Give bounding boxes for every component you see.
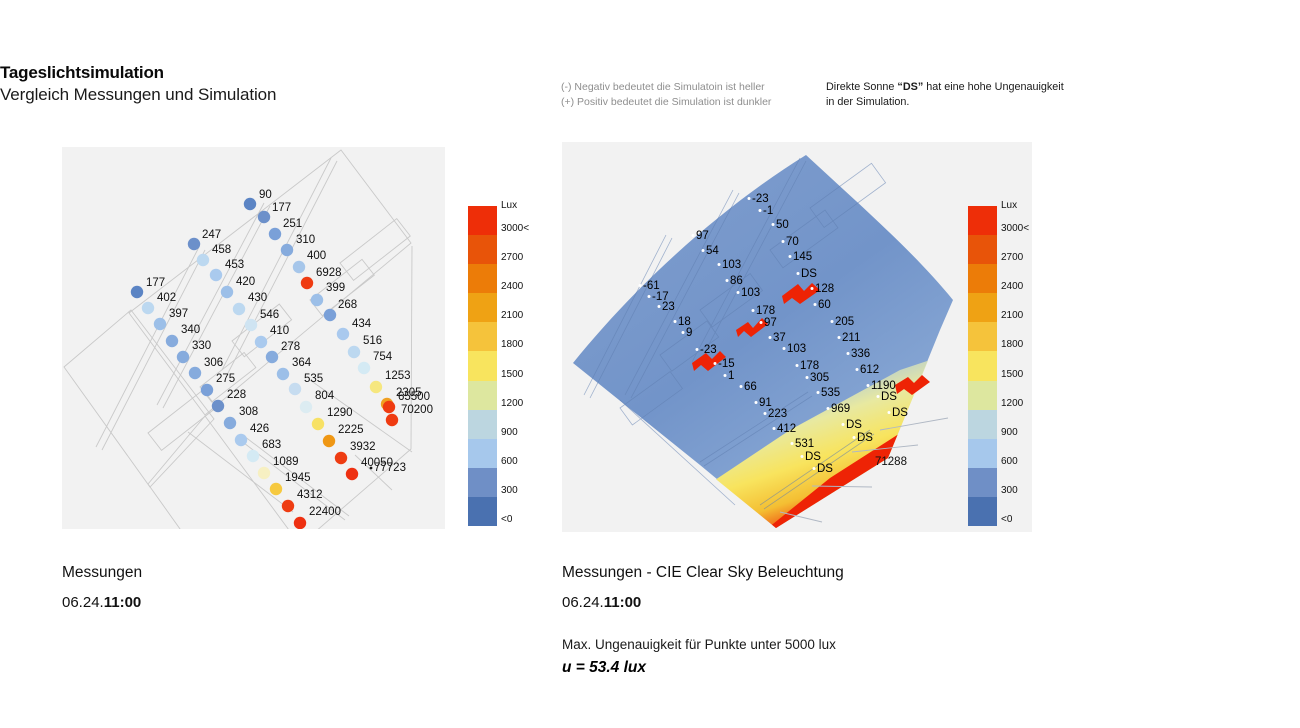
- simulation-point-label: 97: [764, 317, 777, 329]
- colorbar-right-tick: 900: [1001, 427, 1018, 438]
- simulation-point-dot: [748, 197, 751, 200]
- measurement-point-label: 247: [202, 229, 221, 241]
- sign-convention-note: (-) Negativ bedeutet die Simulatoin ist …: [561, 80, 823, 109]
- colorbar-right-tick: 300: [1001, 485, 1018, 496]
- left-caption-title: Messungen: [62, 563, 492, 583]
- colorbar-right-tick: 2400: [1001, 281, 1023, 292]
- simulation-point-dot: [789, 255, 792, 258]
- measurements-floorplan-svg: 9017725131040069283992684345167541253230…: [62, 147, 445, 529]
- simulation-point-dot: [877, 395, 880, 398]
- simulation-point-label: 9: [686, 327, 692, 339]
- simulation-point-dot: [817, 391, 820, 394]
- colorbar-right-tick: 600: [1001, 456, 1018, 467]
- simulation-point-dot: [740, 385, 743, 388]
- simulation-point-label: 103: [722, 259, 741, 271]
- measurement-point-label: 308: [239, 406, 258, 418]
- simulation-point-label: 336: [851, 348, 870, 360]
- measurement-point-label: 364: [292, 357, 312, 369]
- measurement-point: [337, 328, 349, 340]
- measurement-point: [269, 228, 281, 240]
- measurement-point: [312, 418, 324, 430]
- simulation-point-dot: [806, 376, 809, 379]
- simulation-point-label: 412: [777, 423, 796, 435]
- right-caption-time: 11:00: [604, 594, 642, 611]
- simulation-point-label: 205: [835, 316, 854, 328]
- measurement-point-label: 1089: [273, 456, 299, 468]
- measurement-point-label: 458: [212, 244, 231, 256]
- simulation-point-dot: [856, 368, 859, 371]
- measurement-point-label: 65500: [398, 391, 430, 403]
- measurement-point: [189, 367, 201, 379]
- sign-convention-negative: (-) Negativ bedeutet die Simulatoin ist …: [561, 80, 823, 95]
- colorbar-left: Lux3000<27002400210018001500120090060030…: [468, 206, 538, 526]
- measurement-point-label: 430: [248, 292, 267, 304]
- measurement-point: [233, 303, 245, 315]
- simulation-point-label: 305: [810, 372, 829, 384]
- colorbar-left-tick: 1500: [501, 369, 523, 380]
- simulation-point-label: 128: [815, 283, 834, 295]
- colorbar-left-tick: 1800: [501, 339, 523, 350]
- colorbar-left-tick: <0: [501, 514, 512, 525]
- simulation-point-dot: [827, 407, 830, 410]
- direct-sun-note-line2: in der Simulation.: [826, 95, 1116, 110]
- simulation-point-label: 23: [662, 301, 675, 313]
- simulation-point-dot: [847, 352, 850, 355]
- measurement-point-label: 400: [307, 250, 326, 262]
- measurement-extra-dot: [370, 467, 373, 470]
- measurement-point: [258, 211, 270, 223]
- simulation-point-label: 612: [860, 364, 879, 376]
- measurement-point: [221, 286, 233, 298]
- measurement-point-label: 1290: [327, 407, 353, 419]
- measurement-point-label: 402: [157, 292, 176, 304]
- measurements-plot-panel: 9017725131040069283992684345167541253230…: [62, 147, 445, 529]
- measurement-point-label: 70200: [401, 404, 433, 416]
- colorbar-right-strip: [968, 206, 997, 526]
- simulation-point-dot: [888, 411, 891, 414]
- direct-sun-note: Direkte Sonne “DS” hat eine hohe Ungenau…: [826, 80, 1116, 110]
- simulation-point-dot: [797, 272, 800, 275]
- simulation-point-label: 37: [773, 332, 786, 344]
- colorbar-right-segment: [968, 439, 997, 468]
- measurement-point: [154, 318, 166, 330]
- measurement-point: [323, 435, 335, 447]
- measurement-point-label: 278: [281, 341, 300, 353]
- simulation-point-label: DS: [892, 407, 908, 419]
- simulation-point-dot: [764, 412, 767, 415]
- measurement-point-label: 90: [259, 189, 272, 201]
- simulation-point-dot: [682, 331, 685, 334]
- colorbar-right-tick: 1500: [1001, 369, 1023, 380]
- measurement-point-label: 410: [270, 325, 289, 337]
- simulation-point-dot: [867, 384, 870, 387]
- simulation-point-label: -1: [763, 205, 773, 217]
- colorbar-left-tick: 3000<: [501, 223, 529, 234]
- colorbar-right-segment: [968, 468, 997, 497]
- left-caption-date-prefix: 06.24.: [62, 594, 104, 611]
- simulation-point-dot: [755, 401, 758, 404]
- simulation-point-dot: [759, 209, 762, 212]
- measurement-point-label: 251: [283, 218, 302, 230]
- measurement-point-label: 804: [315, 390, 335, 402]
- colorbar-left-ticks: Lux3000<27002400210018001500120090060030…: [501, 206, 541, 526]
- colorbar-right-tick: 2700: [1001, 252, 1023, 263]
- simulation-point-dot: [813, 467, 816, 470]
- measurement-point: [131, 286, 143, 298]
- simulation-point-dot: [853, 436, 856, 439]
- measurement-point-label: 306: [204, 357, 223, 369]
- simulation-extra-label: 71288: [875, 456, 907, 468]
- simulation-point-label: 54: [706, 245, 719, 257]
- measurement-point: [255, 336, 267, 348]
- right-caption-date: 06.24.11:00: [562, 593, 1082, 613]
- measurement-point-label: 1253: [385, 370, 411, 382]
- simulation-point-dot: [782, 240, 785, 243]
- measurement-point: [244, 198, 256, 210]
- simulation-point-label: 178: [800, 360, 819, 372]
- measurement-point: [266, 351, 278, 363]
- direct-sun-note-c: hat eine hohe Ungenauigkeit: [923, 81, 1063, 93]
- colorbar-right-segment: [968, 410, 997, 439]
- measurement-point: [277, 368, 289, 380]
- measurement-point-label: 1945: [285, 472, 311, 484]
- right-caption-date-prefix: 06.24.: [562, 594, 604, 611]
- measurement-point: [383, 401, 395, 413]
- simulation-point-label: DS: [881, 391, 897, 403]
- measurement-point-group: 9017725131040069283992684345167541253230…: [131, 189, 433, 529]
- measurement-point: [197, 254, 209, 266]
- measurement-point: [201, 384, 213, 396]
- simulation-extra-label-group: 71288: [870, 456, 907, 468]
- measurement-point-label: 434: [352, 318, 372, 330]
- simulation-point-label: -23: [752, 193, 769, 205]
- colorbar-right-tick: 1800: [1001, 339, 1023, 350]
- colorbar-left-unit: Lux: [501, 200, 517, 211]
- simulation-point-dot: [838, 336, 841, 339]
- colorbar-right-segment: [968, 322, 997, 351]
- measurement-point: [282, 500, 294, 512]
- colorbar-right-segment: [968, 351, 997, 380]
- simulation-point-dot: [769, 336, 772, 339]
- measurement-point-label: 22400: [309, 506, 341, 518]
- measurement-point-label: 228: [227, 389, 246, 401]
- measurement-point: [324, 309, 336, 321]
- measurement-point-label: 535: [304, 373, 323, 385]
- measurement-point-label: 310: [296, 234, 315, 246]
- simulation-point-dot: [696, 348, 699, 351]
- simulation-point-dot: [658, 305, 661, 308]
- colorbar-right-unit: Lux: [1001, 200, 1017, 211]
- simulation-point-dot: [814, 303, 817, 306]
- simulation-point-label: 531: [795, 438, 814, 450]
- simulation-point-label: 66: [744, 381, 757, 393]
- simulation-point-label: -15: [718, 358, 735, 370]
- simulation-point-label: 103: [741, 287, 760, 299]
- measurement-point: [386, 414, 398, 426]
- measurement-point: [346, 468, 358, 480]
- simulation-point-label: 86: [730, 275, 743, 287]
- left-caption-time: 11:00: [104, 594, 142, 611]
- simulation-falsecolor-svg: -23-150977054145103DS86128-61103-1760231…: [562, 142, 1032, 532]
- simulation-point-label: 223: [768, 408, 787, 420]
- simulation-point-label: 969: [831, 403, 850, 415]
- colorbar-right: Lux3000<27002400210018001500120090060030…: [968, 206, 1038, 526]
- colorbar-right-segment: [968, 235, 997, 264]
- measurement-point-label: 330: [192, 340, 211, 352]
- simulation-extra-dot: [870, 460, 873, 463]
- simulation-point-dot: [842, 423, 845, 426]
- simulation-point-dot: [674, 320, 677, 323]
- colorbar-right-tick: 3000<: [1001, 223, 1029, 234]
- measurement-point: [188, 238, 200, 250]
- measurement-point: [300, 401, 312, 413]
- simulation-point-dot: [783, 347, 786, 350]
- simulation-point-dot: [692, 234, 695, 237]
- simulation-point-dot: [639, 284, 642, 287]
- measurement-point-label: 3932: [350, 441, 376, 453]
- measurement-extra-label-group: 77723: [370, 462, 406, 474]
- measurement-point: [358, 362, 370, 374]
- measurement-point-label: 397: [169, 308, 188, 320]
- colorbar-left-segment: [468, 439, 497, 468]
- simulation-point-label: 178: [756, 305, 775, 317]
- simulation-point-dot: [726, 279, 729, 282]
- measurement-point: [370, 381, 382, 393]
- accuracy-note: Max. Ungenauigkeit für Punkte unter 5000…: [562, 635, 1082, 655]
- simulation-point-label: -23: [700, 344, 717, 356]
- page-title: Tageslichtsimulation: [0, 62, 560, 83]
- simulation-point-label: DS: [846, 419, 862, 431]
- colorbar-left-segment: [468, 206, 497, 235]
- measurement-point: [235, 434, 247, 446]
- measurement-point: [294, 517, 306, 529]
- simulation-point-dot: [831, 320, 834, 323]
- measurement-point-label: 177: [272, 202, 291, 214]
- colorbar-left-segment: [468, 468, 497, 497]
- simulation-point-dot: [718, 263, 721, 266]
- measurement-point-label: 426: [250, 423, 269, 435]
- simulation-point-label: 211: [842, 332, 860, 344]
- page-subtitle: Vergleich Messungen und Simulation: [0, 84, 560, 106]
- sign-convention-positive: (+) Positiv bedeutet die Simulation ist …: [561, 95, 823, 110]
- simulation-point-dot: [737, 291, 740, 294]
- simulation-point-dot: [702, 249, 705, 252]
- colorbar-left-tick: 600: [501, 456, 518, 467]
- simulation-point-label: DS: [801, 268, 817, 280]
- simulation-point-dot: [772, 223, 775, 226]
- measurement-point: [224, 417, 236, 429]
- simulation-point-label: 60: [818, 299, 831, 311]
- measurement-point: [247, 450, 259, 462]
- measurement-point: [210, 269, 222, 281]
- colorbar-left-segment: [468, 351, 497, 380]
- simulation-point-label: 535: [821, 387, 840, 399]
- direct-sun-note-line1: Direkte Sonne “DS” hat eine hohe Ungenau…: [826, 80, 1116, 95]
- measurement-point-label: 453: [225, 259, 244, 271]
- direct-sun-abbrev: “DS”: [897, 81, 923, 93]
- page-header: Tageslichtsimulation Vergleich Messungen…: [0, 62, 560, 106]
- measurement-point-label: 4312: [297, 489, 323, 501]
- colorbar-right-segment: [968, 264, 997, 293]
- colorbar-right-segment: [968, 206, 997, 235]
- measurement-point-label: 516: [363, 335, 382, 347]
- colorbar-left-segment: [468, 264, 497, 293]
- measurement-point: [245, 319, 257, 331]
- right-caption-title: Messungen - CIE Clear Sky Beleuchtung: [562, 563, 1082, 583]
- direct-sun-note-a: Direkte Sonne: [826, 81, 897, 93]
- simulation-point-dot: [752, 309, 755, 312]
- measurement-point: [348, 346, 360, 358]
- measurement-point: [177, 351, 189, 363]
- measurement-point-label: 754: [373, 351, 393, 363]
- colorbar-left-strip: [468, 206, 497, 526]
- simulation-point-dot: [811, 287, 814, 290]
- measurement-point: [142, 302, 154, 314]
- colorbar-left-segment: [468, 381, 497, 410]
- colorbar-right-ticks: Lux3000<27002400210018001500120090060030…: [1001, 206, 1041, 526]
- measurement-point-label: 340: [181, 324, 200, 336]
- simulation-point-dot: [714, 362, 717, 365]
- simulation-point-label: 145: [793, 251, 812, 263]
- colorbar-left-segment: [468, 322, 497, 351]
- simulation-point-label: 50: [776, 219, 789, 231]
- simulation-point-label: 97: [696, 230, 709, 242]
- simulation-point-label: DS: [805, 451, 821, 463]
- simulation-point-dot: [760, 321, 763, 324]
- simulation-point-dot: [801, 455, 804, 458]
- simulation-point-dot: [648, 295, 651, 298]
- colorbar-right-segment: [968, 381, 997, 410]
- left-caption-date: 06.24.11:00: [62, 593, 492, 613]
- measurement-point: [311, 294, 323, 306]
- colorbar-left-segment: [468, 497, 497, 526]
- colorbar-right-segment: [968, 293, 997, 322]
- measurement-point-label: 177: [146, 277, 165, 289]
- measurement-point: [212, 400, 224, 412]
- colorbar-left-tick: 2400: [501, 281, 523, 292]
- colorbar-left-tick: 2700: [501, 252, 523, 263]
- colorbar-left-segment: [468, 410, 497, 439]
- simulation-point-label: DS: [857, 432, 873, 444]
- right-caption: Messungen - CIE Clear Sky Beleuchtung 06…: [562, 563, 1082, 678]
- colorbar-left-segment: [468, 235, 497, 264]
- left-caption: Messungen 06.24.11:00: [62, 563, 492, 613]
- measurement-point-label: 275: [216, 373, 235, 385]
- measurement-point: [270, 483, 282, 495]
- measurement-point: [335, 452, 347, 464]
- simulation-point-label: DS: [817, 463, 833, 475]
- colorbar-right-segment: [968, 497, 997, 526]
- measurement-point-label: 2225: [338, 424, 364, 436]
- simulation-point-label: 70: [786, 236, 799, 248]
- colorbar-left-tick: 900: [501, 427, 518, 438]
- colorbar-right-tick: 1200: [1001, 398, 1023, 409]
- measurement-point-label: 683: [262, 439, 281, 451]
- measurement-point-label: 546: [260, 309, 279, 321]
- measurement-extra-label: 77723: [374, 462, 406, 474]
- simulation-point-label: 103: [787, 343, 806, 355]
- colorbar-left-tick: 300: [501, 485, 518, 496]
- measurement-point: [258, 467, 270, 479]
- measurement-point: [166, 335, 178, 347]
- colorbar-right-tick: <0: [1001, 514, 1012, 525]
- measurement-point-label: 6928: [316, 267, 342, 279]
- measurement-point: [293, 261, 305, 273]
- floorplan-outline: [64, 150, 412, 529]
- colorbar-right-tick: 2100: [1001, 310, 1023, 321]
- colorbar-left-tick: 1200: [501, 398, 523, 409]
- measurement-point-label: 420: [236, 276, 255, 288]
- simulation-point-label: 1: [728, 370, 734, 382]
- colorbar-left-tick: 2100: [501, 310, 523, 321]
- simulation-plot-panel: -23-150977054145103DS86128-61103-1760231…: [562, 142, 1032, 532]
- measurement-point-label: 399: [326, 282, 345, 294]
- measurement-point-label: 268: [338, 299, 357, 311]
- accuracy-value: u = 53.4 lux: [562, 658, 1082, 678]
- simulation-point-dot: [791, 442, 794, 445]
- simulation-point-dot: [796, 364, 799, 367]
- measurement-point: [281, 244, 293, 256]
- colorbar-left-segment: [468, 293, 497, 322]
- simulation-point-dot: [773, 427, 776, 430]
- simulation-point-dot: [724, 374, 727, 377]
- measurement-point: [289, 383, 301, 395]
- measurement-point: [301, 277, 313, 289]
